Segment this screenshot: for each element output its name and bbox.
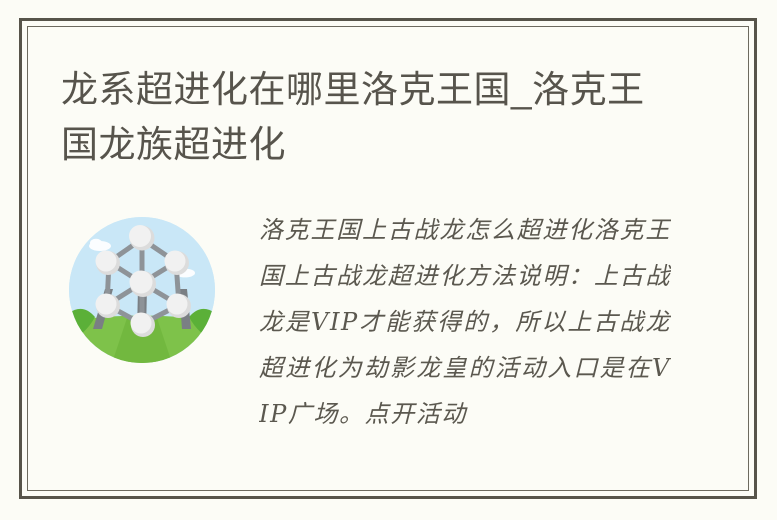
- article-body: 洛克王国上古战龙怎么超进化洛克王国上古战龙超进化方法说明：上古战龙是VIP才能获…: [61, 199, 726, 484]
- article-thumbnail[interactable]: [69, 217, 215, 363]
- article-card-inner-border: 龙系超进化在哪里洛克王国_洛克王国龙族超进化: [27, 26, 749, 491]
- article-excerpt: 洛克王国上古战龙怎么超进化洛克王国上古战龙超进化方法说明：上古战龙是VIP才能获…: [259, 207, 671, 442]
- atomium-monument-icon: [69, 217, 215, 363]
- page-title: 龙系超进化在哪里洛克王国_洛克王国龙族超进化: [61, 62, 661, 172]
- article-card: 龙系超进化在哪里洛克王国_洛克王国龙族超进化: [19, 18, 757, 499]
